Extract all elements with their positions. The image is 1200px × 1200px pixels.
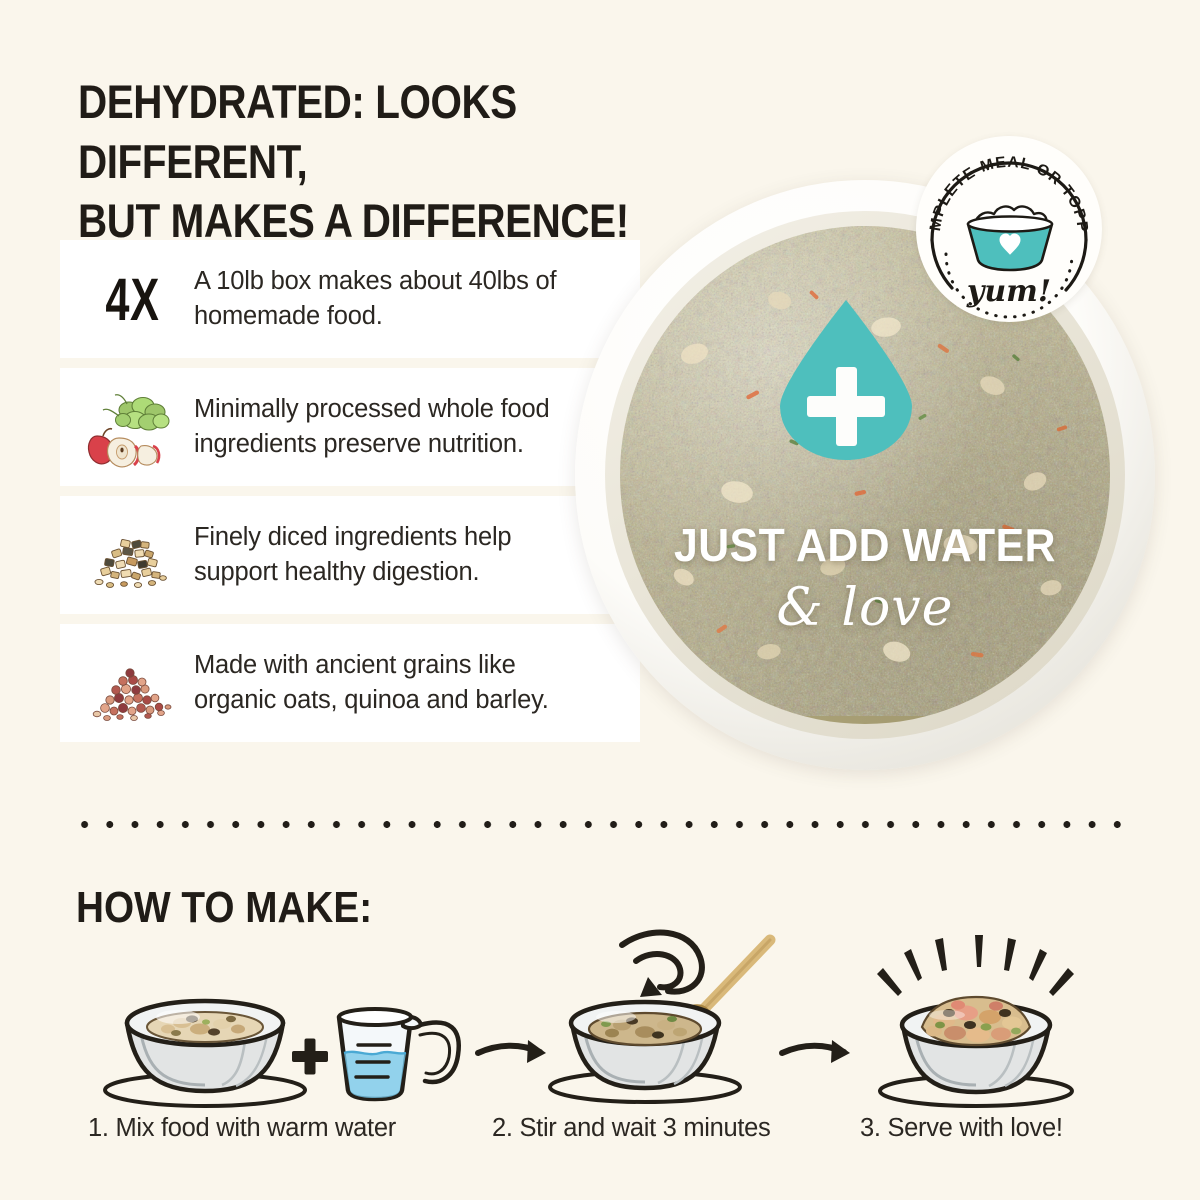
step-3-caption: 3. Serve with love! — [860, 1114, 1063, 1143]
feature-text: A 10lb box makes about 40lbs of homemade… — [188, 264, 588, 334]
feature-row: 4X A 10lb box makes about 40lbs of homem… — [60, 240, 640, 358]
water-drop-plus-icon — [780, 300, 912, 460]
feature-row: Finely diced ingredients help support he… — [60, 496, 640, 614]
feature-text: Minimally processed whole food ingredien… — [188, 392, 588, 462]
feature-row: Minimally processed whole food ingredien… — [60, 368, 640, 486]
feature-row: Made with ancient grains like organic oa… — [60, 624, 640, 742]
sparkle-rays-icon — [877, 935, 1074, 996]
badge-script-text: yum! — [966, 274, 1051, 309]
step-2-caption: 2. Stir and wait 3 minutes — [492, 1114, 771, 1143]
infographic-page: DEHYDRATED: LOOKS DIFFERENT, BUT MAKES A… — [0, 0, 1200, 1200]
dog-bowl-served-icon — [880, 997, 1072, 1106]
dog-bowl-with-food-icon — [105, 1001, 305, 1106]
complete-meal-or-topper-badge: COMPLETE MEAL OR TOPPER yum! — [916, 136, 1102, 322]
measuring-cup-with-water-icon — [339, 1009, 459, 1099]
feature-list: 4X A 10lb box makes about 40lbs of homem… — [60, 240, 640, 752]
step-1-caption: 1. Mix food with warm water — [88, 1114, 396, 1143]
curved-arrow-right-icon — [478, 1040, 546, 1063]
plus-sign — [292, 1039, 328, 1075]
dotted-divider — [72, 820, 1128, 829]
ancient-grains-icon — [78, 633, 188, 733]
four-x-label: 4X — [105, 265, 160, 334]
apple-and-greens-icon — [78, 377, 188, 477]
dog-bowl-with-spoon-icon — [550, 940, 770, 1102]
diced-ingredients-icon — [78, 505, 188, 605]
curved-arrow-right-icon — [782, 1040, 850, 1063]
feature-text: Finely diced ingredients help support he… — [188, 520, 588, 590]
dog-bowl-heart-icon — [968, 207, 1052, 270]
four-x-multiplier-icon: 4X — [78, 249, 188, 349]
plus-vertical-bar — [836, 367, 857, 446]
feature-text: Made with ancient grains like organic oa… — [188, 648, 588, 718]
just-add-water-title: JUST ADD WATER — [595, 518, 1134, 572]
and-love-script: & love — [575, 578, 1155, 638]
stir-swirl-arrow-icon — [622, 933, 702, 998]
